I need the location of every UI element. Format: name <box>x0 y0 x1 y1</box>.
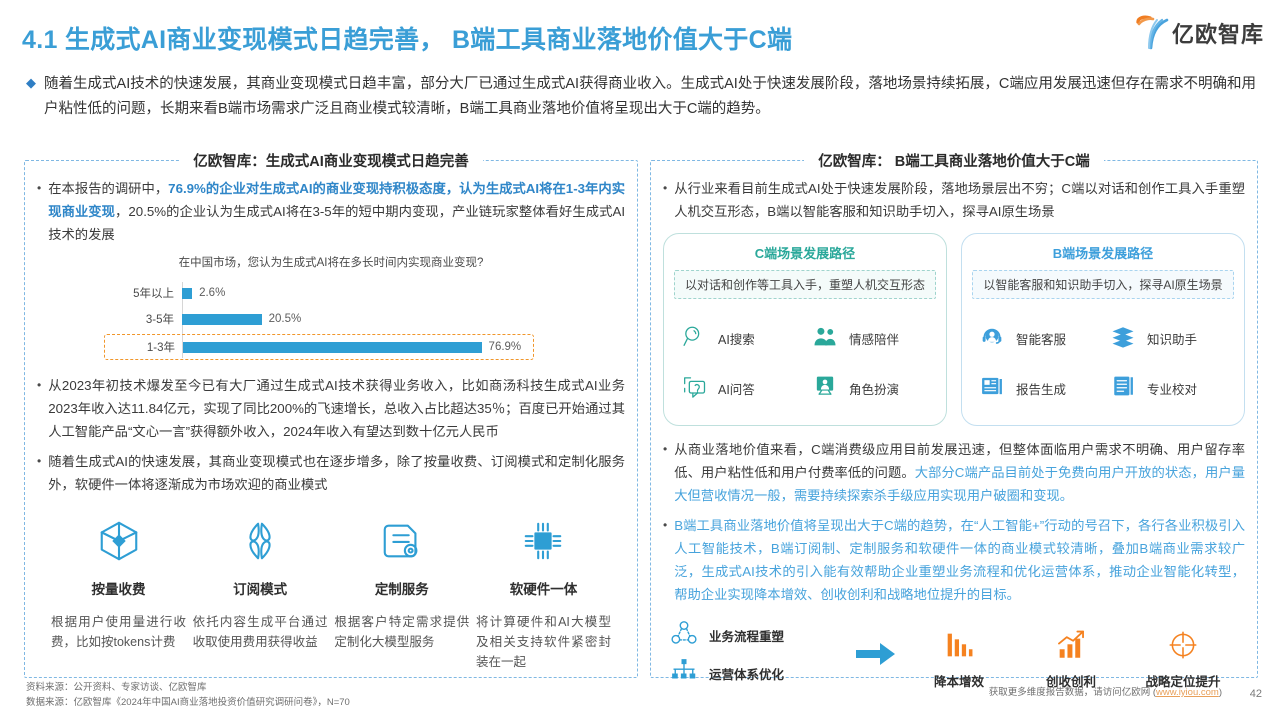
value-chain-inputs: 业务流程重塑运营体系优化 <box>669 616 849 692</box>
chart-bar-row: 1-3年76.9% <box>104 334 534 360</box>
model-desc: 依托内容生成平台通过收取使用费用获得收益 <box>193 612 328 652</box>
scenario-item-label: 角色扮演 <box>849 379 899 398</box>
chart-value-label: 2.6% <box>199 287 225 299</box>
proofread-icon <box>1109 372 1137 405</box>
chart-bar <box>182 288 192 299</box>
slide-page: 4.1 生成式AI商业变现模式日趋完善， B端工具商业落地价值大于C端 亿欧智库… <box>0 0 1280 720</box>
scenario-head: C端场景发展路径 <box>674 243 936 262</box>
scenario-item-label: 智能客服 <box>1016 329 1066 348</box>
scenario-box-b: B端场景发展路径以智能客服和知识助手切入，探寻AI原生场景智能客服知识助手报告生… <box>961 233 1245 426</box>
scenario-item: 情感陪伴 <box>805 313 936 363</box>
value-input-label: 运营体系优化 <box>709 664 784 683</box>
model-name: 软硬件一体 <box>476 578 611 598</box>
scenario-item: 智能客服 <box>972 313 1103 363</box>
right-bullet-1-text: 从商业落地价值来看，C端消费级应用目前发展迅速，但整体面临用户需求不明确、用户留… <box>674 438 1245 507</box>
iyiou-link[interactable]: www.iyiou.com <box>1156 687 1219 698</box>
scenario-item: 报告生成 <box>972 363 1103 413</box>
value-output-card: 创收创利 <box>1016 618 1126 690</box>
left-panel: 亿欧智库：生成式AI商业变现模式日趋完善 • 在本报告的调研中，76.9%的企业… <box>24 160 638 678</box>
scenario-item-label: AI问答 <box>718 379 755 398</box>
value-input-item: 业务流程重塑 <box>669 616 849 654</box>
bullet-dot-icon: • <box>663 514 667 606</box>
scenario-item: AI问答 <box>674 363 805 413</box>
left-panel-title: 亿欧智库：生成式AI商业变现模式日趋完善 <box>25 150 637 171</box>
left-bullet-1: • 在本报告的调研中，76.9%的企业对生成式AI的商业变现持积极态度，认为生成… <box>37 177 625 246</box>
footer-note-prefix: 获取更多维度报告数据，请访问亿欧网 ( <box>989 687 1156 698</box>
chart-category-label: 5年以上 <box>116 285 182 301</box>
process-network-icon <box>669 618 699 653</box>
scenario-grid: 智能客服知识助手报告生成专业校对 <box>972 313 1234 413</box>
scenario-item: 专业校对 <box>1103 363 1234 413</box>
scenario-item: AI搜索 <box>674 313 805 363</box>
footer-note-suffix: ) <box>1219 687 1222 698</box>
chart-bar <box>182 314 262 325</box>
left-bullet-2: • 从2023年初技术爆发至今已有大厂通过生成式AI技术获得业务收入，比如商汤科… <box>37 374 625 443</box>
scenario-sub: 以智能客服和知识助手切入，探寻AI原生场景 <box>972 270 1234 299</box>
bullet-dot-icon: • <box>37 450 41 496</box>
right-bullet-1: • 从商业落地价值来看，C端消费级应用目前发展迅速，但整体面临用户需求不明确、用… <box>663 438 1245 507</box>
brand-logo: 亿欧智库 <box>1136 14 1264 52</box>
model-desc: 将计算硬件和AI大模型及相关支持软件紧密封装在一起 <box>476 612 611 672</box>
text-run: ，20.5%的企业认为生成式AI将在3-5年的短中期内变现，产业链玩家整体看好生… <box>48 204 625 242</box>
stacked-books-icon <box>1109 322 1137 355</box>
value-output-card: 降本增效 <box>904 618 1014 690</box>
scenario-boxes: C端场景发展路径以对话和创作等工具入手，重塑人机交互形态AI搜索情感陪伴AI问答… <box>663 233 1245 426</box>
chart-bar-row: 3-5年20.5% <box>116 308 546 330</box>
right-bullet-top: • 从行业来看目前生成式AI处于快速发展阶段，落地场景层出不穷；C端以对话和创作… <box>663 177 1245 223</box>
chart-value-label: 76.9% <box>489 341 522 353</box>
headset-agent-icon <box>978 322 1006 355</box>
scenario-item-label: 情感陪伴 <box>849 329 899 348</box>
value-input-label: 业务流程重塑 <box>709 626 784 645</box>
document-gear-icon <box>334 510 469 572</box>
intro-text: 随着生成式AI技术的快速发展，其商业变现模式日趋丰富，部分大厂已通过生成式AI获… <box>44 72 1256 122</box>
intro-paragraph: ◆ 随着生成式AI技术的快速发展，其商业变现模式日趋丰富，部分大厂已通过生成式A… <box>26 72 1256 122</box>
right-arrow-icon <box>849 641 903 667</box>
survey-chart: 在中国市场，您认为生成式AI将在多长时间内实现商业变现? 5年以上2.6%3-5… <box>37 254 625 360</box>
business-model-card: 订阅模式依托内容生成平台通过收取使用费用获得收益 <box>193 510 328 672</box>
chart-plot-area: 5年以上2.6%3-5年20.5%1-3年76.9% <box>116 282 546 360</box>
chart-category-label: 1-3年 <box>117 339 183 355</box>
text-run: 在本报告的调研中， <box>48 181 168 196</box>
right-panel-title-text: 亿欧智库： B端工具商业落地价值大于C端 <box>804 154 1103 170</box>
footer-source-line1: 资料来源：公开资料、专家访谈、亿欧智库 <box>26 680 350 695</box>
business-model-cards: 按量收费根据用户使用量进行收费，比如按tokens计费订阅模式依托内容生成平台通… <box>37 510 625 672</box>
right-panel-title: 亿欧智库： B端工具商业落地价值大于C端 <box>651 150 1257 171</box>
report-icon <box>978 372 1006 405</box>
left-bullet-2-text: 从2023年初技术爆发至今已有大厂通过生成式AI技术获得业务收入，比如商汤科技生… <box>48 374 625 443</box>
scenario-grid: AI搜索情感陪伴AI问答角色扮演 <box>674 313 936 413</box>
right-bullet-top-text: 从行业来看目前生成式AI处于快速发展阶段，落地场景层出不穷；C端以对话和创作工具… <box>674 177 1245 223</box>
two-people-icon <box>811 322 839 355</box>
value-chain-outputs: 降本增效创收创利战略定位提升 <box>903 618 1239 690</box>
chip-icon <box>476 510 611 572</box>
footer-source-line2: 数据来源：亿欧智库《2024年中国AI商业落地投资价值研究调研问卷》，N=70 <box>26 695 350 710</box>
bullet-dot-icon: • <box>37 374 41 443</box>
page-number: 42 <box>1250 688 1262 700</box>
chart-bar <box>183 342 482 353</box>
scenario-item-label: 报告生成 <box>1016 379 1066 398</box>
logo-text: 亿欧智库 <box>1172 17 1264 49</box>
business-model-card: 定制服务根据客户特定需求提供定制化大模型服务 <box>334 510 469 672</box>
chart-value-label: 20.5% <box>269 313 302 325</box>
left-bullet-3-text: 随着生成式AI的快速发展，其商业变现模式也在逐步增多，除了按量收费、订阅模式和定… <box>48 450 625 496</box>
growth-chart-icon <box>1016 618 1126 662</box>
scenario-sub: 以对话和创作等工具入手，重塑人机交互形态 <box>674 270 936 299</box>
right-bullet-2-text: B端工具商业落地价值将呈现出大于C端的趋势，在“人工智能+”行动的号召下，各行各… <box>674 514 1245 606</box>
value-chain-row: 业务流程重塑运营体系优化 降本增效创收创利战略定位提升 <box>663 616 1245 692</box>
right-bullet-2: • B端工具商业落地价值将呈现出大于C端的趋势，在“人工智能+”行动的号召下，各… <box>663 514 1245 606</box>
scenario-item-label: 专业校对 <box>1147 379 1197 398</box>
value-input-item: 运营体系优化 <box>669 654 849 692</box>
scenario-item-label: AI搜索 <box>718 329 755 348</box>
page-title: 4.1 生成式AI商业变现模式日趋完善， B端工具商业落地价值大于C端 <box>22 20 792 56</box>
logo-mark-icon <box>1136 14 1170 52</box>
org-structure-icon <box>669 656 699 691</box>
chart-title: 在中国市场，您认为生成式AI将在多长时间内实现商业变现? <box>37 254 625 270</box>
scenario-item-label: 知识助手 <box>1147 329 1197 348</box>
chart-category-label: 3-5年 <box>116 311 182 327</box>
bullet-dot-icon: • <box>663 438 667 507</box>
scenario-box-c: C端场景发展路径以对话和创作等工具入手，重塑人机交互形态AI搜索情感陪伴AI问答… <box>663 233 947 426</box>
scenario-head: B端场景发展路径 <box>972 243 1234 262</box>
chat-question-icon <box>680 372 708 405</box>
bullet-dot-icon: • <box>663 177 667 223</box>
footer-note: 获取更多维度报告数据，请访问亿欧网 (www.iyiou.com) <box>989 684 1222 698</box>
text-run: ，生成式AI技术的引入能有效帮助企业重塑业务流程和优化运营体系，推动企业智能化转… <box>674 564 1245 602</box>
left-bullet-1-text: 在本报告的调研中，76.9%的企业对生成式AI的商业变现持积极态度，认为生成式A… <box>48 177 625 246</box>
left-panel-title-text: 亿欧智库：生成式AI商业变现模式日趋完善 <box>179 154 483 170</box>
value-output-card: 战略定位提升 <box>1128 618 1238 690</box>
model-name: 订阅模式 <box>193 578 328 598</box>
left-bullet-3: • 随着生成式AI的快速发展，其商业变现模式也在逐步增多，除了按量收费、订阅模式… <box>37 450 625 496</box>
scenario-item: 角色扮演 <box>805 363 936 413</box>
right-panel: 亿欧智库： B端工具商业落地价值大于C端 • 从行业来看目前生成式AI处于快速发… <box>650 160 1258 678</box>
magnifier-icon <box>680 322 708 355</box>
business-model-card: 按量收费根据用户使用量进行收费，比如按tokens计费 <box>51 510 186 672</box>
scenario-item: 知识助手 <box>1103 313 1234 363</box>
bullet-dot-icon: • <box>37 177 41 246</box>
diamond-bullet-icon: ◆ <box>26 72 36 122</box>
model-name: 按量收费 <box>51 578 186 598</box>
model-name: 定制服务 <box>334 578 469 598</box>
four-petals-icon <box>193 510 328 572</box>
cube-icon <box>51 510 186 572</box>
chart-bar-row: 5年以上2.6% <box>116 282 546 304</box>
business-model-card: 软硬件一体将计算硬件和AI大模型及相关支持软件紧密封装在一起 <box>476 510 611 672</box>
model-desc: 根据客户特定需求提供定制化大模型服务 <box>334 612 469 652</box>
model-desc: 根据用户使用量进行收费，比如按tokens计费 <box>51 612 186 652</box>
footer-sources: 资料来源：公开资料、专家访谈、亿欧智库 数据来源：亿欧智库《2024年中国AI商… <box>26 680 350 710</box>
avatar-screen-icon <box>811 372 839 405</box>
target-icon <box>1128 618 1238 662</box>
bar-down-icon <box>904 618 1014 662</box>
